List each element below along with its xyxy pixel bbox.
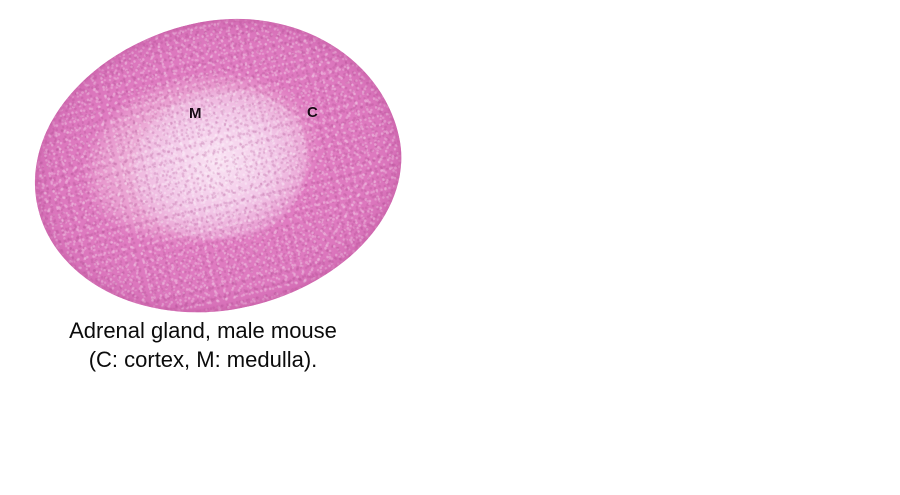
panel-male-mouse: M C Adrenal gland, male mouse (C: cortex…	[0, 0, 440, 380]
caption-line-1: Adrenal gland, male mouse	[0, 316, 406, 345]
tissue-granularity-texture	[5, 0, 428, 348]
capsule-rim	[875, 0, 900, 402]
caption-line-1: Adrenal gland, female mouse, age	[862, 372, 900, 401]
capsule-rim	[5, 0, 428, 348]
tissue-granularity-texture	[875, 0, 900, 402]
caption-line-3: M: medulla, X: X-zone).	[862, 430, 900, 459]
panel-female-mouse: C X M Adrenal gland, female mouse, age a…	[440, 0, 900, 495]
adrenal-gland-specimen-male	[5, 0, 428, 348]
caption-line-2: about 3 months (C: cortex,	[862, 401, 900, 430]
cortex-tissue-female	[875, 0, 900, 402]
caption-female-mouse: Adrenal gland, female mouse, age about 3…	[862, 372, 900, 459]
region-label-medulla-male: M	[189, 106, 202, 121]
adrenal-gland-specimen-female	[875, 0, 900, 402]
caption-male-mouse: Adrenal gland, male mouse (C: cortex, M:…	[0, 316, 406, 374]
cortex-tissue-male	[5, 0, 428, 348]
medulla-region-male	[118, 72, 324, 258]
caption-line-2: (C: cortex, M: medulla).	[0, 345, 406, 374]
region-label-cortex-male: C	[307, 105, 318, 120]
figure-root: M C Adrenal gland, male mouse (C: cortex…	[0, 0, 900, 495]
